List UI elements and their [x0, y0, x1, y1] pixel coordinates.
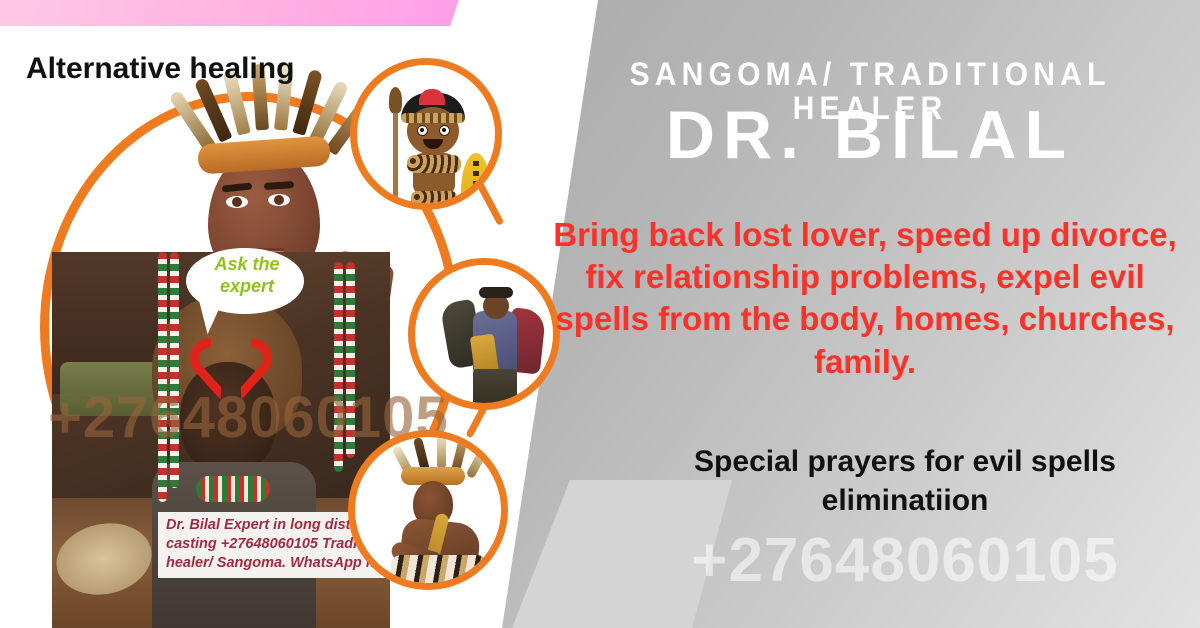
- kneeling-healer-skirt: [391, 555, 487, 590]
- healer-headband: [197, 135, 331, 174]
- beaded-strand: [170, 252, 179, 488]
- circle-thumb-sangoma-bundle: [408, 258, 560, 410]
- warrior-fur-chest: [407, 155, 461, 173]
- healer-pupil-left: [232, 197, 242, 207]
- circle-thumb-zulu-warrior: [350, 58, 502, 210]
- plume-icon: [466, 445, 490, 479]
- phone-watermark: +27648060105: [620, 530, 1190, 592]
- sangoma-legs: [473, 369, 517, 407]
- subheading-text: Special prayers for evil spells eliminat…: [620, 442, 1190, 520]
- spear-icon: [393, 99, 398, 210]
- warrior-headband: [401, 113, 465, 123]
- sangoma-foot-right: [501, 405, 519, 410]
- warrior-pupil-right: [442, 128, 446, 132]
- warrior-hair-red-accent: [419, 89, 445, 105]
- beaded-strand: [158, 252, 167, 502]
- warrior-pupil-left: [420, 128, 424, 132]
- circle-thumb-kneeling-healer: [348, 430, 508, 590]
- left-artwork-area: +27648060105 Ask the expert Dr. Bilal Ex…: [0, 0, 540, 628]
- sangoma-foot-left: [475, 405, 493, 410]
- photo-person-beaded-necklace: [196, 476, 270, 502]
- healer-name: DR. BILAL: [560, 100, 1180, 171]
- spear-tip-icon: [389, 87, 402, 113]
- healer-pupil-right: [274, 195, 284, 205]
- speech-bubble-text: Ask the expert: [196, 254, 298, 298]
- heart-icon: [196, 336, 272, 404]
- sangoma-hat: [479, 287, 513, 298]
- page-title: Alternative healing: [26, 52, 294, 86]
- plume-icon: [437, 435, 446, 469]
- services-text: Bring back lost lover, speed up divorce,…: [540, 214, 1190, 383]
- speech-bubble-tail: [194, 298, 222, 335]
- poster-canvas: +27648060105 Ask the expert Dr. Bilal Ex…: [0, 0, 1200, 628]
- warrior-skirt: [411, 191, 457, 210]
- shield-marking: [473, 161, 479, 210]
